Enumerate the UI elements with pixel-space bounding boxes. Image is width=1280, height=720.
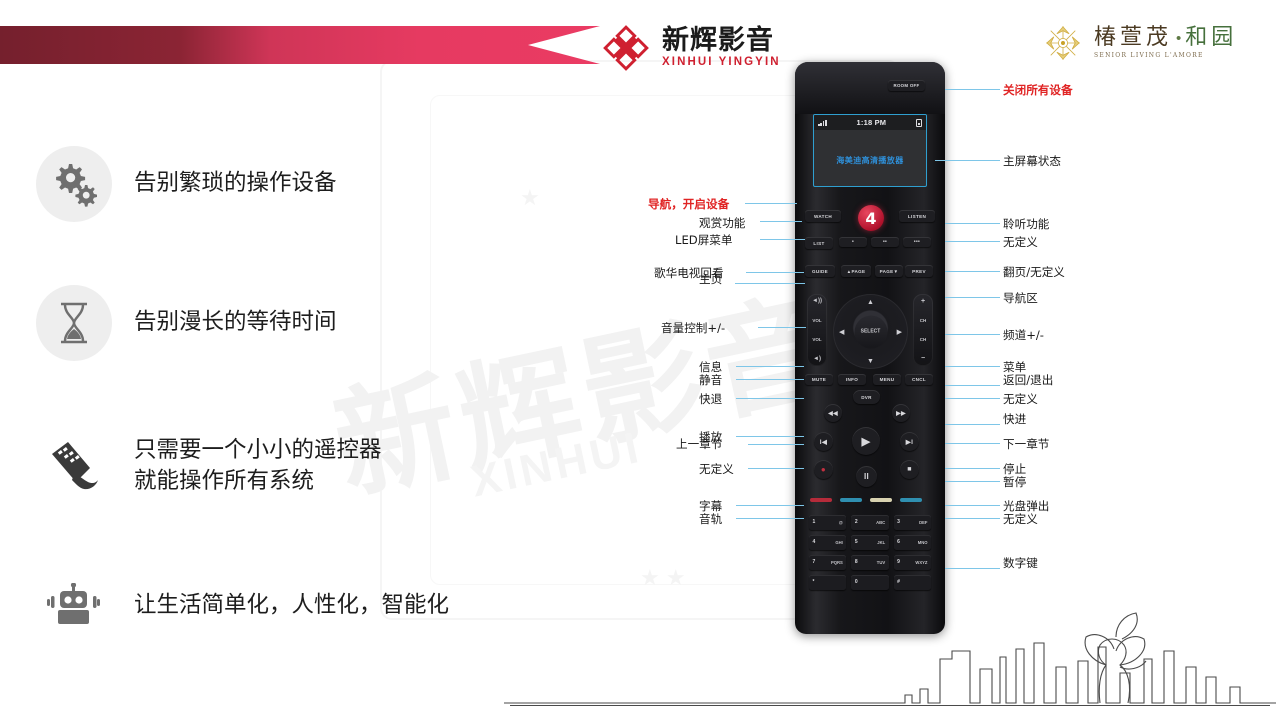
callout-right-2: 主屏幕状态 [1003,153,1061,169]
callout-right-17: 数字键 [1003,555,1038,571]
list-button[interactable]: LIST [805,237,833,249]
navigation-dpad[interactable]: ▲ ▼ ◀ ▶ SELECT [833,294,908,369]
hourglass-icon [57,301,91,345]
dvr-button[interactable]: DVR [853,390,880,404]
feature-item-3: 只需要一个小小的遥控器 就能操作所有系统 [36,428,382,504]
cancel-button[interactable]: CNCL [905,374,933,385]
guide-button[interactable]: GUIDE [805,265,835,277]
callout-right-9: 返回/退出 [1003,372,1053,388]
callout-left-11: 上一章节 [676,436,722,452]
volume-label: VOL [812,318,821,323]
feature-icon-wrap [36,428,112,504]
keypad-digit: 9 [897,559,900,565]
callout-left-5: 主页 [699,271,722,287]
brand-right-cn2: 和园 [1185,27,1237,49]
keypad-digit: 5 [855,539,858,545]
lcd-status-bar: 1:18 PM [814,115,926,130]
menu-button[interactable]: MENU [873,374,901,385]
channel-label: CH [920,318,927,323]
leader-line [748,444,804,445]
watermark-star: ★ [520,185,540,211]
battery-icon [916,119,922,127]
keypad-digit: 2 [855,519,858,525]
feature-item-2: 告别漫长的等待时间 [36,285,337,361]
keypad-letters: ABC [876,520,885,525]
brand-name-en: XINHUI YINGYIN [662,57,781,69]
keypad-key-hash[interactable]: # [894,575,931,590]
keypad-digit: 3 [897,519,900,525]
leader-line [945,271,1000,272]
leader-line [758,327,806,328]
leader-line [945,443,1000,444]
leader-line [736,398,804,399]
watch-button[interactable]: WATCH [805,210,841,222]
callout-right-16: 无定义 [1003,511,1038,527]
callout-left-9: 快退 [699,391,722,407]
feature-label-3: 只需要一个小小的遥控器 就能操作所有系统 [134,435,382,497]
leader-line [945,481,1000,482]
xinhui-logo-icon [600,22,652,74]
callout-right-3: 聆听功能 [1003,216,1049,232]
feature-label-4: 让生活简单化，人性化，智能化 [134,590,449,621]
next-track-button[interactable]: ▶I [900,432,919,451]
remote-lcd-screen: 1:18 PM 海美迪高清播放器 [813,114,927,187]
feature-item-1: 告别繁琐的操作设备 [36,146,337,222]
keypad-key-2[interactable]: 2 ABC [851,515,888,530]
leader-line [736,505,804,506]
numeric-keypad[interactable]: 1 @ 2 ABC 3 DEF 4 GHI 5 JKL 6 M [809,515,931,595]
keypad-digit: 7 [813,559,816,565]
keypad-row: 1 @ 2 ABC 3 DEF [809,515,931,530]
yellow-color-button[interactable] [870,498,892,502]
watermark-subtitle: XINHUI [467,423,647,508]
leader-line [945,223,1000,224]
rewind-button[interactable]: ◀◀ [824,404,842,422]
keypad-key-5[interactable]: 5 JKL [851,535,888,550]
keypad-key-4[interactable]: 4 GHI [809,535,846,550]
callout-right-4: 无定义 [1003,234,1038,250]
leader-line [945,568,1000,569]
keypad-letters: @ [839,520,843,525]
leader-line [945,398,1000,399]
keypad-key-1[interactable]: 1 @ [809,515,846,530]
leader-line [945,89,1000,90]
leader-line [745,203,797,204]
brand-logo-left: 新辉影音 XINHUI YINGYIN [600,22,781,74]
dpad-left-icon[interactable]: ◀ [839,328,844,336]
select-button[interactable]: SELECT [854,315,887,348]
keypad-key-8[interactable]: 8 TUV [851,555,888,570]
leader-line [736,518,804,519]
page-up-button[interactable]: ▲PAGE [841,265,871,277]
flower-logo-icon [1040,20,1086,66]
remote-control-device: ROOM OFF 1:18 PM 海美迪高清播放器 WATCH 4 LISTEN… [795,62,945,634]
leader-line [945,241,1000,242]
keypad-letters: GHI [835,540,842,545]
keypad-digit: 1 [813,519,816,525]
leader-line [945,297,1000,298]
keypad-digit: 6 [897,539,900,545]
prev-page-button[interactable]: PREV [905,265,933,277]
keypad-letters: JKL [877,540,885,545]
leader-line [735,283,805,284]
keypad-key-star[interactable]: * [809,575,846,590]
keypad-digit: 0 [855,579,858,585]
record-button[interactable]: ● [814,460,833,479]
keypad-letters: MNO [918,540,928,545]
leader-line [945,518,1000,519]
keypad-letters: PQRS [831,560,843,565]
info-button[interactable]: INFO [838,374,866,385]
robot-icon [47,583,101,629]
keypad-letters: DEF [919,520,927,525]
lcd-clock: 1:18 PM [857,118,887,127]
leader-line [760,239,805,240]
callout-left-14: 音轨 [699,511,722,527]
keypad-key-6[interactable]: 6 MNO [894,535,931,550]
room-off-button[interactable]: ROOM OFF [888,80,925,91]
callout-right-7: 频道+/- [1003,327,1044,343]
keypad-key-7[interactable]: 7 PQRS [809,555,846,570]
control4-logo-icon: 4 [858,205,884,231]
stop-button[interactable]: ■ [900,460,919,479]
blue-color-button[interactable] [840,498,862,502]
feature-icon-wrap [36,146,112,222]
leader-line [945,334,1000,335]
feature-icon-wrap [36,285,112,361]
callout-left-1: 导航，开启设备 [648,196,729,212]
volume-up-icon: ◄)) [812,298,822,304]
leader-line [736,436,804,437]
dot2-button[interactable]: •• [871,237,899,247]
channel-plus-label: + [921,298,925,305]
volume-rocker[interactable]: ◄)) VOL VOL ◄) [807,294,827,366]
dpad-down-icon[interactable]: ▼ [867,358,874,365]
listen-button[interactable]: LISTEN [899,210,935,222]
signal-bars-icon [818,119,827,126]
leader-line [736,366,804,367]
feature-label-1: 告别繁琐的操作设备 [134,168,337,199]
callout-left-12: 无定义 [699,461,734,477]
keypad-key-0[interactable]: 0 [851,575,888,590]
brand-logo-right: 椿萱茂 • 和园 SENIOR LIVING L'AMORE [1040,20,1237,66]
callout-left-8: 静音 [699,372,722,388]
keypad-row: 7 PQRS 8 TUV 9 WXYZ [809,555,931,570]
header-banner [0,26,600,64]
page-down-button[interactable]: PAGE▼ [875,265,903,277]
leader-line [760,221,802,222]
feature-label-2: 告别漫长的等待时间 [134,307,337,338]
watermark-title: 新辉影音 [317,250,846,525]
callout-left-6: 音量控制+/- [661,320,725,336]
dot3-button[interactable]: ••• [903,237,931,247]
callout-right-10: 无定义 [1003,391,1038,407]
keypad-key-9[interactable]: 9 WXYZ [894,555,931,570]
cyan-color-button[interactable] [900,498,922,502]
leader-line [945,366,1000,367]
leader-line [736,379,804,380]
keypad-digit: # [897,579,900,585]
previous-track-button[interactable]: I◀ [814,432,833,451]
gears-icon [49,161,99,207]
callout-right-14: 暂停 [1003,474,1026,490]
remote-hand-icon [46,440,102,492]
brand-right-cn: 椿萱茂 [1094,27,1172,49]
callout-right-5: 翻页/无定义 [1003,264,1065,280]
brand-name-cn: 新辉影音 [662,27,781,54]
callout-right-1: 关闭所有设备 [1003,82,1073,98]
city-skyline-decoration [500,607,1280,712]
volume-down-icon: ◄) [813,356,821,362]
leader-line [945,385,1000,386]
channel-minus-label: − [921,355,925,362]
dpad-up-icon[interactable]: ▲ [867,299,874,306]
keypad-digit: 4 [813,539,816,545]
leader-line [945,424,1000,425]
keypad-digit: * [813,579,815,585]
brand-right-dot: • [1176,31,1181,46]
dpad-right-icon[interactable]: ▶ [897,328,902,336]
leader-line [748,468,804,469]
leader-line [945,468,1000,469]
keypad-letters: WXYZ [915,560,927,565]
dot1-button[interactable]: • [839,237,867,247]
keypad-row: 4 GHI 5 JKL 6 MNO [809,535,931,550]
keypad-digit: 8 [855,559,858,565]
brand-right-en: SENIOR LIVING L'AMORE [1094,53,1237,59]
watermark-star: ★ ★ [640,565,686,591]
fast-forward-button[interactable]: ▶▶ [892,404,910,422]
volume-label-2: VOL [812,337,821,342]
callout-right-12: 下一章节 [1003,436,1049,452]
header-banner-gradient [0,26,600,64]
keypad-row: * 0 # [809,575,931,590]
channel-label-2: CH [920,337,927,342]
callout-right-11: 快进 [1003,411,1026,427]
skyline-baseline [510,705,1270,706]
mute-button[interactable]: MUTE [805,374,833,385]
feature-icon-wrap [36,568,112,644]
feature-item-4: 让生活简单化，人性化，智能化 [36,568,449,644]
lcd-device-title: 海美迪高清播放器 [814,155,926,166]
play-button[interactable]: ▶ [852,427,880,455]
callout-right-6: 导航区 [1003,290,1038,306]
callout-left-3: LED屏菜单 [675,232,733,248]
leader-line [945,505,1000,506]
leader-line [746,272,804,273]
pause-button[interactable]: II [856,466,877,487]
keypad-letters: TUV [877,560,885,565]
leader-line [935,160,1000,161]
red-color-button[interactable] [810,498,832,502]
callout-left-2: 观赏功能 [699,215,745,231]
keypad-key-3[interactable]: 3 DEF [894,515,931,530]
channel-rocker[interactable]: + CH CH − [913,294,933,366]
slide-canvas: ★ ★ ★ 新辉影音 XINHUI 新辉影音 XINHUI YINGYIN [0,0,1280,720]
